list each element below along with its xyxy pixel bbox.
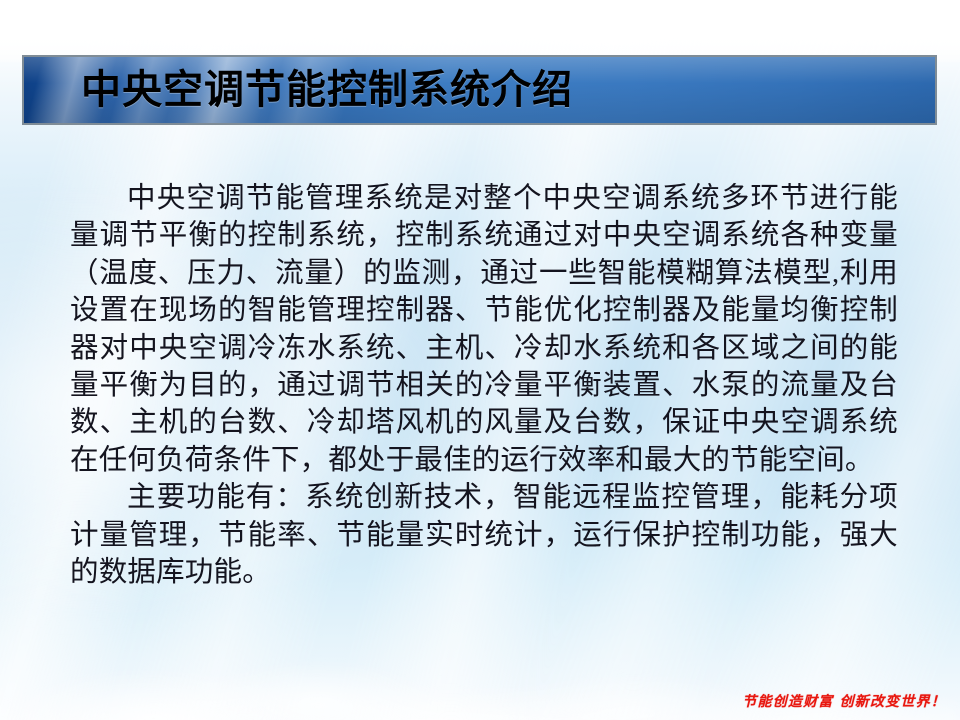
footer-slogan: 节能创造财富 创新改变世界！ xyxy=(742,691,946,711)
slide-body: 中央空调节能管理系统是对整个中央空调系统多环节进行能量调节平衡的控制系统，控制系… xyxy=(70,180,898,591)
top-white-wash-decoration xyxy=(0,0,960,62)
title-banner: 中央空调节能控制系统介绍 xyxy=(22,55,937,125)
page-title: 中央空调节能控制系统介绍 xyxy=(24,70,573,110)
paragraph-main-functions: 主要功能有：系统创新技术，智能远程监控管理，能耗分项计量管理，节能率、节能量实时… xyxy=(70,479,898,591)
paragraph-overview: 中央空调节能管理系统是对整个中央空调系统多环节进行能量调节平衡的控制系统，控制系… xyxy=(70,180,898,479)
presentation-slide: 中央空调节能控制系统介绍 中央空调节能管理系统是对整个中央空调系统多环节进行能量… xyxy=(0,0,960,720)
